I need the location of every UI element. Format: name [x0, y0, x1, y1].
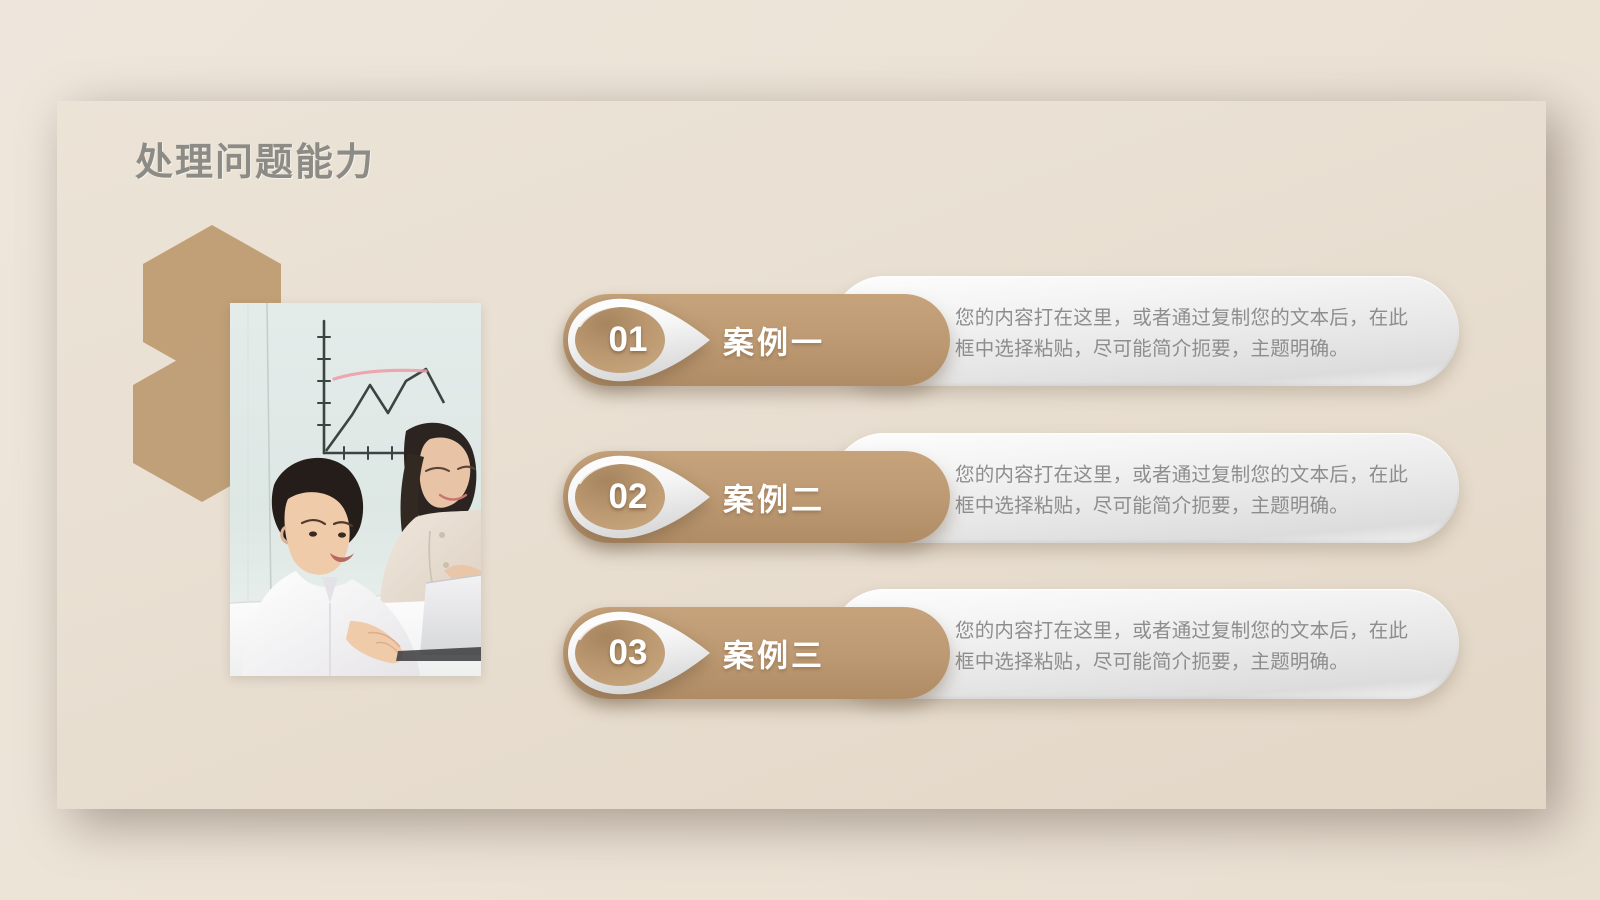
slide-canvas: 处理问题能力 [57, 101, 1546, 809]
case-row[interactable]: 您的内容打在这里，或者通过复制您的文本后，在此框中选择粘贴，尽可能简介扼要，主题… [563, 421, 1463, 571]
case-description-text: 您的内容打在这里，或者通过复制您的文本后，在此框中选择粘贴，尽可能简介扼要，主题… [955, 460, 1420, 522]
case-title-pill[interactable]: 案例一 [563, 294, 950, 386]
case-row[interactable]: 您的内容打在这里，或者通过复制您的文本后，在此框中选择粘贴，尽可能简介扼要，主题… [563, 577, 1463, 727]
case-description-text: 您的内容打在这里，或者通过复制您的文本后，在此框中选择粘贴，尽可能简介扼要，主题… [955, 616, 1420, 678]
eye-badge-icon [558, 447, 716, 547]
case-row[interactable]: 您的内容打在这里，或者通过复制您的文本后，在此框中选择粘贴，尽可能简介扼要，主题… [563, 264, 1463, 414]
case-title-pill[interactable]: 案例三 [563, 607, 950, 699]
case-description-text: 您的内容打在这里，或者通过复制您的文本后，在此框中选择粘贴，尽可能简介扼要，主题… [955, 303, 1420, 365]
presentation-backdrop: 处理问题能力 [0, 0, 1600, 900]
eye-badge-icon [558, 290, 716, 390]
case-title-label: 案例二 [723, 475, 825, 520]
case-title-label: 案例三 [723, 631, 825, 676]
eye-badge-icon [558, 603, 716, 703]
case-title-label: 案例一 [723, 318, 825, 363]
case-list: 您的内容打在这里，或者通过复制您的文本后，在此框中选择粘贴，尽可能简介扼要，主题… [57, 101, 1546, 809]
case-title-pill[interactable]: 案例二 [563, 451, 950, 543]
